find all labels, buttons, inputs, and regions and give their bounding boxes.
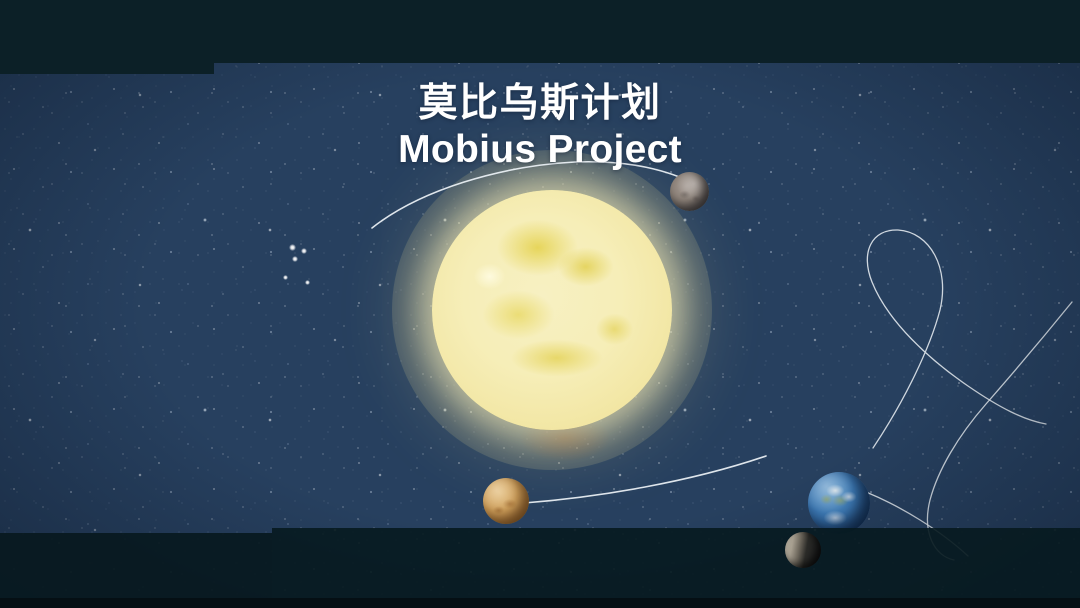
letterbox-top-left bbox=[0, 0, 214, 74]
title-card-stage: 莫比乌斯计划 Mobius Project bbox=[0, 0, 1080, 608]
letterbox-bottom-right bbox=[272, 528, 1080, 608]
moon bbox=[785, 532, 821, 568]
letterbox-bottom-left bbox=[0, 533, 272, 608]
gray-planet bbox=[670, 172, 709, 211]
sun bbox=[432, 190, 672, 430]
letterbox-top-right bbox=[214, 0, 1080, 63]
earth-planet bbox=[808, 472, 870, 534]
mars-planet bbox=[483, 478, 529, 524]
letterbox-bottom-edge bbox=[0, 598, 1080, 608]
